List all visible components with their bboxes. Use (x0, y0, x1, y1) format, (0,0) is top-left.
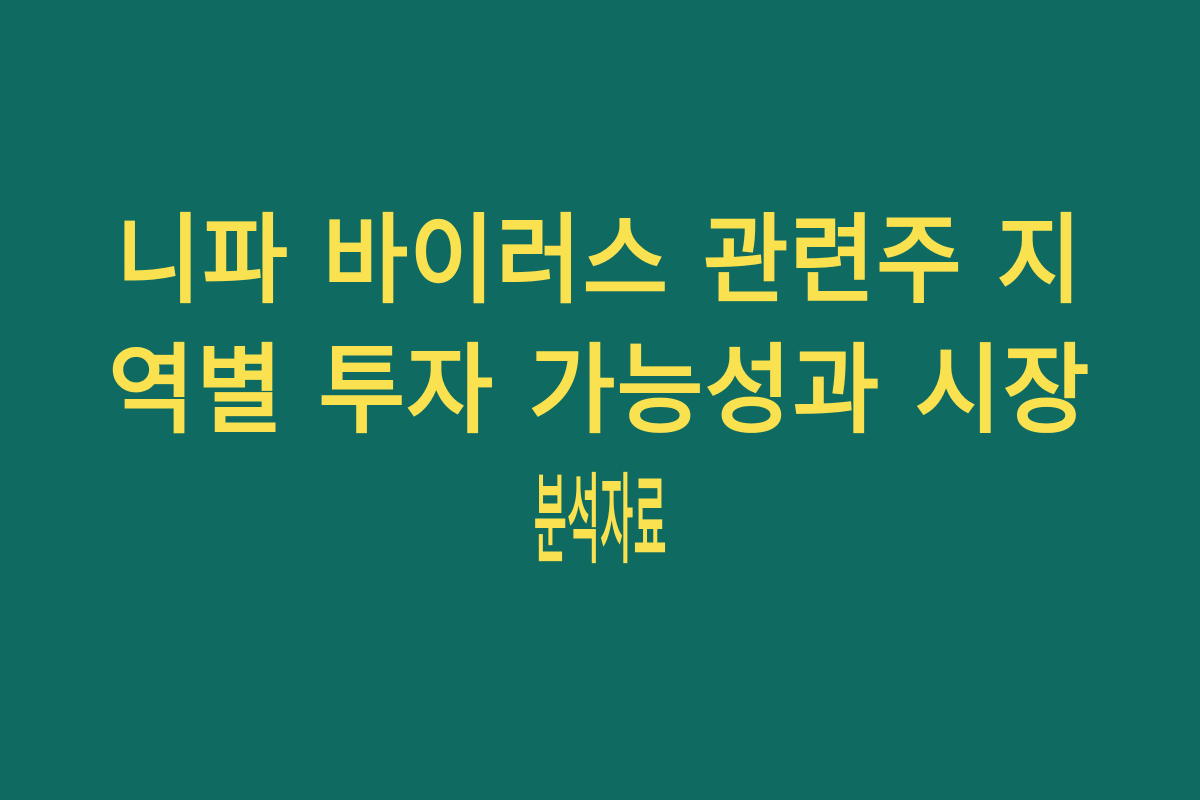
title-line-3: 분석자료 (534, 456, 667, 586)
page-title: 니파 바이러스 관련주 지 역별 투자 가능성과 시장 분석자료 (70, 196, 1130, 604)
title-card: 니파 바이러스 관련주 지 역별 투자 가능성과 시장 분석자료 (0, 0, 1200, 800)
title-line-1: 니파 바이러스 관련주 지 (116, 196, 1083, 326)
title-line-2: 역별 투자 가능성과 시장 (109, 326, 1092, 456)
